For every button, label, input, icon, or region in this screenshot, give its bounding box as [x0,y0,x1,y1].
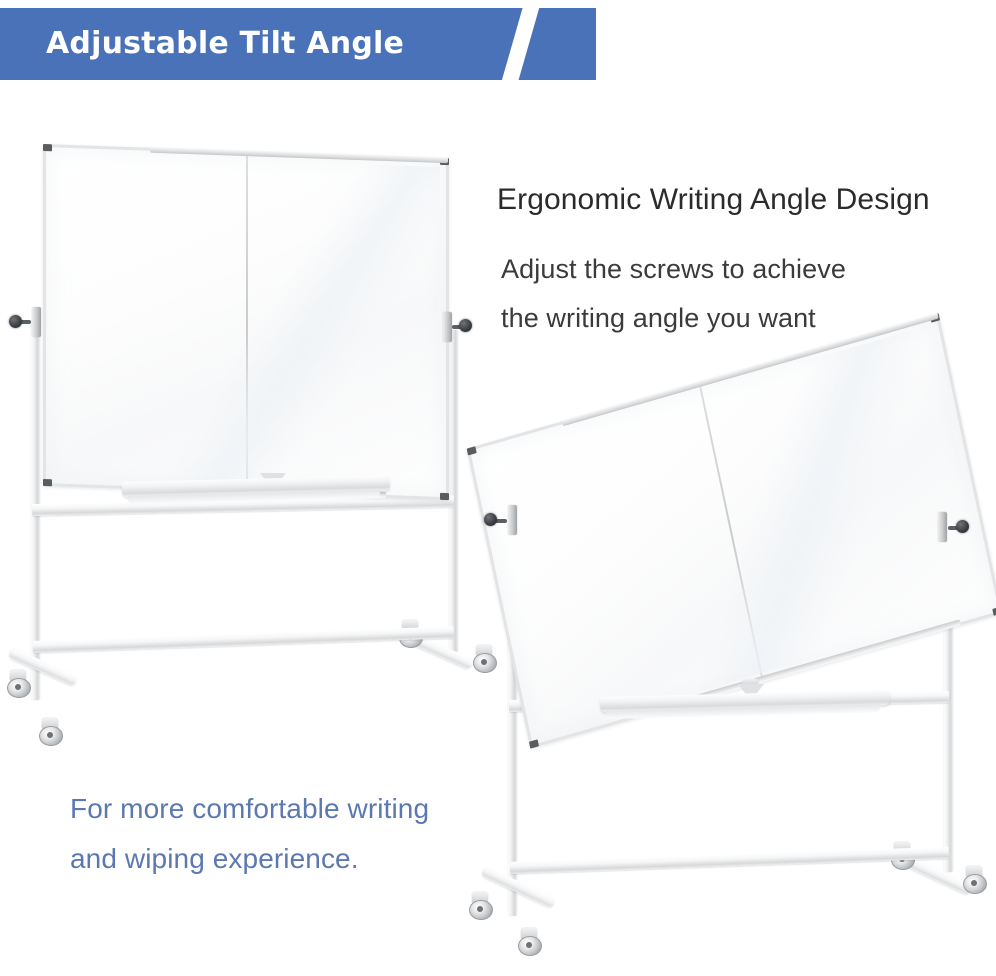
caster-wheel-icon [6,670,30,696]
caster-wheel-icon [517,928,541,954]
pivot-knob-icon [956,520,969,533]
stand-leg-right [449,330,458,652]
pivot-knob-icon [459,319,472,332]
frame-corner [43,479,52,486]
pivot-hinge-left [32,307,41,337]
caster-wheel-icon [472,645,496,671]
caster-wheel-icon [468,892,492,918]
pivot-hinge-right [938,512,947,542]
frame-corner [467,446,477,455]
subtext-line-1: Adjust the screws to achieve [501,254,846,285]
footnote-line-1: For more comfortable writing [70,793,429,825]
headline-text: Ergonomic Writing Angle Design [497,183,930,217]
panel-seam [699,385,763,680]
whiteboard-surface [467,313,996,748]
frame-corner [529,739,539,748]
subtext-line-2: the writing angle you want [501,303,816,334]
stand-crossbar-lower [33,626,454,653]
header-banner: Adjustable Tilt Angle [0,8,596,80]
footnote-line-2: and wiping experience. [70,843,359,875]
pivot-hinge-left [508,505,517,535]
frame-top-rail [150,147,448,163]
frame-corner [440,493,449,500]
whiteboard-surface [43,144,449,500]
diagonal-slash-icon [498,8,542,80]
caster-wheel-icon [38,718,62,744]
pivot-hinge-right [443,312,452,342]
banner-title: Adjustable Tilt Angle [46,26,404,61]
frame-corner [43,144,52,151]
panel-seam [246,154,248,490]
frame-corner [992,606,996,615]
caster-wheel-icon [962,866,986,892]
stand-crossbar-lower [510,847,949,874]
product-feature-image: Adjustable Tilt Angle Ergonomic Writing … [0,0,996,976]
pivot-knob-icon [9,315,22,328]
surface-sheen [477,325,992,738]
pivot-knob-icon [484,513,497,526]
